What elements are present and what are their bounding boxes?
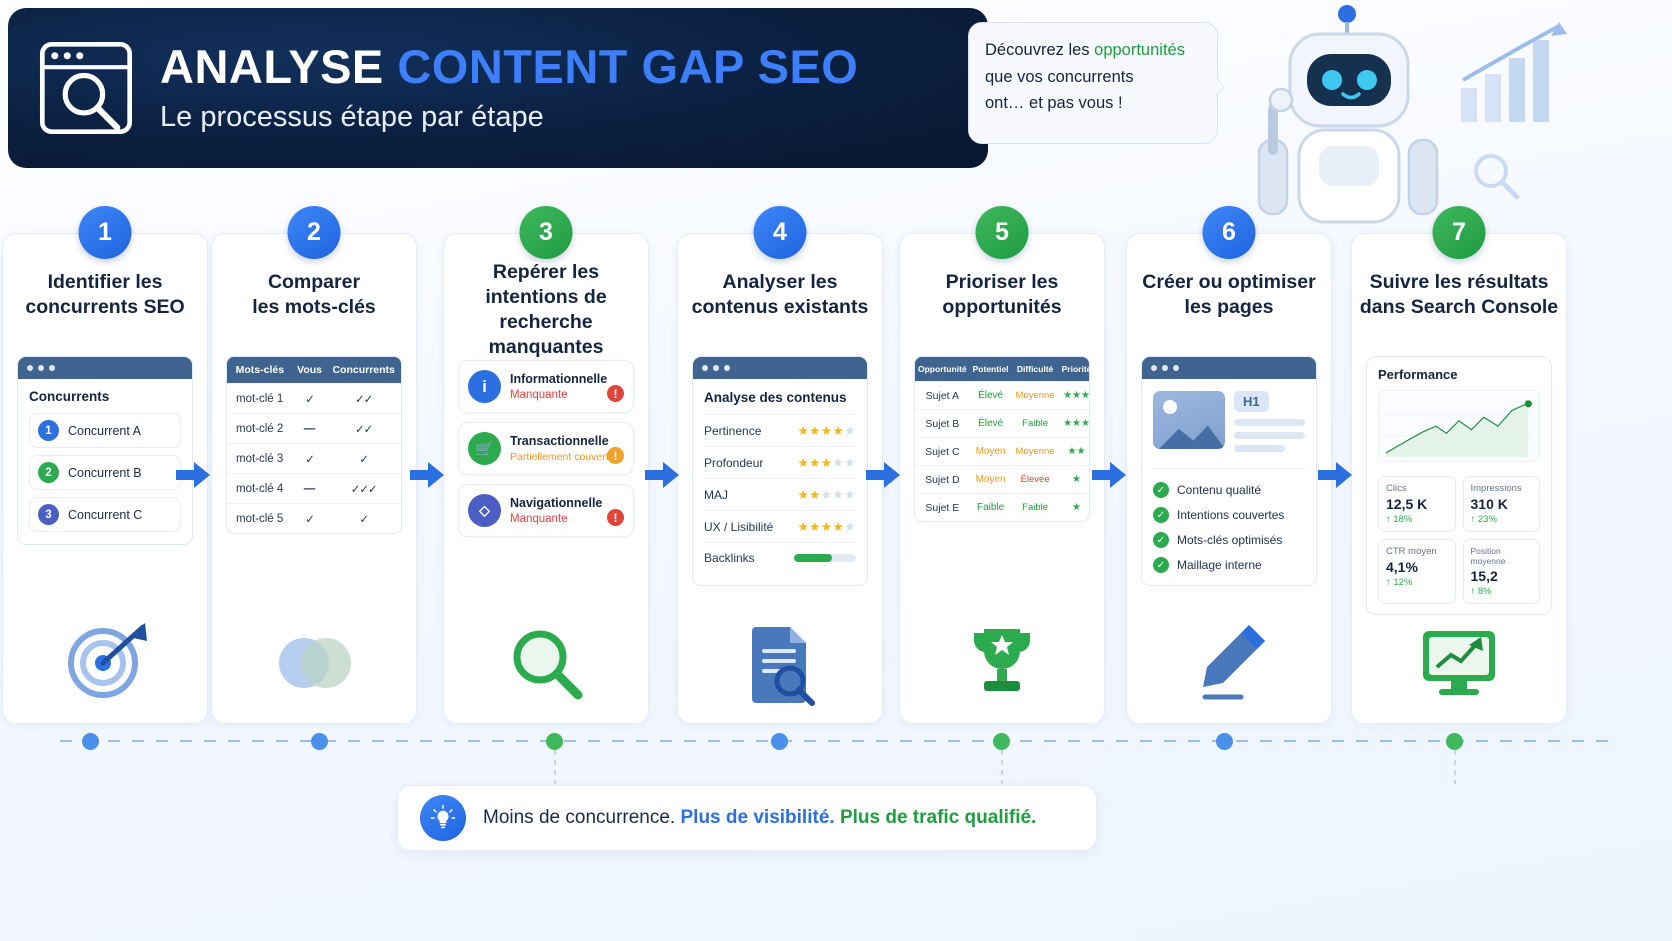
rating-row: Pertinence ★★★★★: [704, 414, 856, 446]
you-cell: ✓: [293, 444, 327, 474]
table-row: mot-clé 2 — ✓✓: [227, 414, 401, 444]
timeline-dot-5: [993, 733, 1010, 750]
step-title-6-line1: Créer ou optimiser: [1142, 271, 1315, 293]
compass-icon: ◇: [468, 494, 501, 527]
intent-name: Navigationnelle: [510, 496, 602, 510]
rating-row: MAJ ★★★★★: [704, 478, 856, 510]
text-line: [1234, 419, 1305, 426]
timeline-dot-2: [311, 733, 328, 750]
kpi-value: 4,1%: [1386, 559, 1448, 575]
checklist-label: Intentions couvertes: [1177, 508, 1284, 522]
col-opportunity: Opportunité: [915, 357, 970, 382]
timeline-dot-6: [1216, 733, 1233, 750]
checklist-item: ✓ Maillage interne: [1153, 557, 1305, 573]
kpi-delta: ↑ 8%: [1471, 586, 1533, 597]
footer-part-2: Plus de visibilité.: [681, 807, 835, 828]
bubble-line3: ont… et pas vous !: [985, 94, 1123, 112]
window-dot: [724, 365, 730, 371]
lightbulb-icon: [420, 795, 466, 841]
timeline-dot-4: [771, 733, 788, 750]
star-rating: ★★★★★: [797, 455, 856, 470]
flow-arrow-icon: [866, 462, 900, 488]
window-dot: [702, 365, 708, 371]
window-titlebar: [18, 357, 192, 379]
priority-cell: ★★: [1059, 438, 1090, 466]
potential-cell: Moyen: [970, 438, 1012, 466]
difficulty-cell: Élevée: [1012, 466, 1059, 494]
step-title-4-line1: Analyser les: [723, 271, 838, 293]
step-title-7: Suivre les résultats dans Search Console: [1358, 270, 1560, 320]
priority-cell: ★★★: [1059, 382, 1090, 410]
venn-diagram-icon: [268, 615, 360, 707]
window-dot: [713, 365, 719, 371]
competitors-cell: ✓: [326, 444, 401, 474]
competitor-rank: 2: [38, 462, 59, 483]
title-white-part: ANALYSE: [160, 40, 384, 93]
window-titlebar: [1142, 357, 1316, 379]
step-card-6[interactable]: 6 Créer ou optimiser les pages H1 ✓ Cont…: [1126, 233, 1332, 724]
timeline-dot-3: [546, 733, 563, 750]
step-card-3[interactable]: 3 Repérer les intentions de recherche ma…: [443, 233, 649, 724]
step-title-4: Analyser les contenus existants: [684, 270, 876, 320]
competitor-label: Concurrent B: [68, 466, 142, 480]
keyword-cell: mot-clé 4: [227, 474, 293, 504]
check-icon: ✓: [1153, 532, 1169, 548]
progress-row: Backlinks: [704, 542, 856, 573]
kpi-label: Impressions: [1471, 483, 1533, 494]
kpi-label: Clics: [1386, 483, 1448, 494]
check-icon: ✓: [1153, 557, 1169, 573]
potential-cell: Élevé: [970, 410, 1012, 438]
footer-part-1: Moins de concurrence.: [483, 807, 681, 828]
star-rating: ★★★★★: [797, 423, 856, 438]
table-row: mot-clé 3 ✓ ✓: [227, 444, 401, 474]
potential-cell: Moyen: [970, 466, 1012, 494]
kpi-value: 12,5 K: [1386, 496, 1448, 512]
col-potential: Potentiel: [970, 357, 1012, 382]
intent-card-navigational[interactable]: ◇ Navigationnelle Manquante !: [458, 484, 634, 537]
bubble-line1-a: Découvrez les: [985, 41, 1094, 59]
keyword-cell: mot-clé 5: [227, 504, 293, 534]
step-title-6: Créer ou optimiser les pages: [1133, 270, 1325, 320]
check-icon: ✓: [1153, 507, 1169, 523]
timeline-stem: [554, 750, 556, 784]
window-dot: [1173, 365, 1179, 371]
col-you: Vous: [293, 357, 327, 384]
bubble-line2: que vos concurrents: [985, 68, 1134, 86]
you-cell: —: [293, 414, 327, 444]
competitor-rank: 1: [38, 420, 59, 441]
rating-row: Profondeur ★★★★★: [704, 446, 856, 478]
footer-text: Moins de concurrence. Plus de visibilité…: [483, 807, 1036, 829]
flow-arrow-icon: [1318, 462, 1352, 488]
star-rating: ★★★★★: [797, 487, 856, 502]
you-cell: —: [293, 474, 327, 504]
table-row: mot-clé 5 ✓ ✓: [227, 504, 401, 534]
step-card-5[interactable]: 5 Prioriser les opportunités Opportunité…: [899, 233, 1105, 724]
step-card-7[interactable]: 7 Suivre les résultats dans Search Conso…: [1351, 233, 1567, 724]
intent-status: Manquante: [510, 513, 602, 525]
table-row: mot-clé 4 — ✓✓✓: [227, 474, 401, 504]
footer-part-3: Plus de trafic qualifié.: [835, 807, 1037, 828]
col-difficulty: Difficulté: [1012, 357, 1059, 382]
competitor-label: Concurrent A: [68, 424, 141, 438]
priority-cell: ★: [1059, 466, 1090, 494]
decorative-bar-chart-icon: [1455, 18, 1575, 128]
info-icon: i: [468, 370, 501, 403]
kpi-position: Position moyenne 15,2 ↑ 8%: [1463, 539, 1541, 604]
competitor-rank: 3: [38, 504, 59, 525]
checklist-item: ✓ Contenu qualité: [1153, 482, 1305, 498]
window-dot: [49, 365, 55, 371]
timeline-track: [60, 740, 1612, 742]
window-titlebar: [693, 357, 867, 379]
competitors-cell: ✓✓✓: [326, 474, 401, 504]
kpi-value: 310 K: [1471, 496, 1533, 512]
window-dot: [27, 365, 33, 371]
competitors-cell: ✓✓: [326, 414, 401, 444]
checklist-label: Mots-clés optimisés: [1177, 533, 1282, 547]
intent-name: Transactionnelle: [510, 434, 614, 448]
intent-card-transactional[interactable]: 🛒 Transactionnelle Partiellement couvert…: [458, 422, 634, 475]
checklist-item: ✓ Intentions couvertes: [1153, 507, 1305, 523]
flow-arrow-icon: [176, 462, 210, 488]
keyword-comparison-table: Mots-clés Vous Concurrents mot-clé 1 ✓ ✓…: [226, 356, 402, 534]
header-banner: ANALYSE CONTENT GAP SEO Le processus éta…: [8, 8, 988, 168]
step-title-7-line2: dans Search Console: [1360, 296, 1558, 318]
growth-monitor-icon: [1413, 615, 1505, 707]
panel-title: Concurrents: [29, 389, 181, 404]
table-row: Sujet A Élevé Moyenne ★★★: [915, 382, 1090, 410]
list-item[interactable]: 1 Concurrent A: [29, 413, 181, 448]
step-card-4[interactable]: 4 Analyser les contenus existants Analys…: [677, 233, 883, 724]
you-cell: ✓: [293, 504, 327, 534]
timeline-stem: [1001, 750, 1003, 784]
checklist-item: ✓ Mots-clés optimisés: [1153, 532, 1305, 548]
step-title-3-line2: intentions de recherche: [485, 286, 606, 333]
difficulty-cell: Moyenne: [1012, 438, 1059, 466]
competitors-panel: Concurrents 1 Concurrent A 2 Concurrent …: [17, 356, 193, 545]
opportunity-priority-table: Opportunité Potentiel Difficulté Priorit…: [914, 356, 1090, 522]
timeline-dot-1: [82, 733, 99, 750]
intent-list: i Informationnelle Manquante ! 🛒 Transac…: [458, 360, 634, 546]
h1-tag: H1: [1234, 391, 1269, 412]
warning-icon: !: [607, 509, 624, 526]
step-title-5-line1: Prioriser les: [946, 271, 1059, 293]
step-badge-3: 3: [520, 206, 573, 259]
table-header-row: Mots-clés Vous Concurrents: [227, 357, 401, 384]
flow-arrow-icon: [645, 462, 679, 488]
kpi-impressions: Impressions 310 K ↑ 23%: [1463, 476, 1541, 532]
kpi-delta: ↑ 12%: [1386, 577, 1448, 588]
priority-cell: ★: [1059, 494, 1090, 522]
checklist-label: Maillage interne: [1177, 558, 1262, 572]
difficulty-cell: Moyenne: [1012, 382, 1059, 410]
rating-row: UX / Lisibilité ★★★★★: [704, 510, 856, 542]
intent-status: Manquante: [510, 389, 607, 401]
content-analysis-panel: Analyse des contenus Pertinence ★★★★★ Pr…: [692, 356, 868, 586]
page-subtitle: Le processus étape par étape: [160, 101, 858, 134]
list-item[interactable]: 2 Concurrent B: [29, 455, 181, 490]
kpi-delta: ↑ 18%: [1386, 514, 1448, 525]
text-line: [1234, 445, 1285, 452]
kpi-grid: Clics 12,5 K ↑ 18% Impressions 310 K ↑ 2…: [1378, 476, 1540, 604]
page-preview: H1: [1153, 389, 1305, 468]
keyword-cell: mot-clé 2: [227, 414, 293, 444]
target-arrow-icon: [59, 615, 151, 707]
step-badge-2: 2: [288, 206, 341, 259]
cart-icon: 🛒: [468, 432, 501, 465]
col-competitors: Concurrents: [326, 357, 401, 384]
competitors-cell: ✓: [326, 504, 401, 534]
speech-bubble: Découvrez les opportunités que vos concu…: [968, 22, 1218, 144]
intent-card-informational[interactable]: i Informationnelle Manquante !: [458, 360, 634, 413]
kpi-label: Position moyenne: [1471, 546, 1533, 566]
keyword-cell: mot-clé 1: [227, 384, 293, 414]
panel-title: Performance: [1378, 367, 1540, 382]
step-title-5-line2: opportunités: [942, 296, 1061, 318]
kpi-delta: ↑ 23%: [1471, 514, 1533, 525]
flow-arrow-icon: [410, 462, 444, 488]
trophy-icon: [956, 615, 1048, 707]
rating-label: Profondeur: [704, 456, 763, 470]
kpi-label: CTR moyen: [1386, 546, 1448, 557]
list-item[interactable]: 3 Concurrent C: [29, 497, 181, 532]
step-title-6-line2: les pages: [1185, 296, 1274, 318]
star-rating: ★★★★★: [797, 519, 856, 534]
check-icon: ✓: [1153, 482, 1169, 498]
subject-cell: Sujet B: [915, 410, 970, 438]
subject-cell: Sujet A: [915, 382, 970, 410]
kpi-clicks: Clics 12,5 K ↑ 18%: [1378, 476, 1456, 532]
step-card-2[interactable]: 2 Comparer les mots-clés Mots-clés Vous …: [211, 233, 417, 724]
intent-status: Partiellement couverte: [510, 451, 614, 463]
progress-bar: [794, 554, 856, 562]
footer-banner: Moins de concurrence. Plus de visibilité…: [397, 785, 1097, 851]
decorative-magnifier-icon: [1470, 150, 1522, 202]
rating-label: UX / Lisibilité: [704, 520, 773, 534]
window-dot: [38, 365, 44, 371]
subject-cell: Sujet C: [915, 438, 970, 466]
warning-icon: !: [607, 385, 624, 402]
step-title-4-line2: contenus existants: [692, 296, 869, 318]
intent-name: Informationnelle: [510, 372, 607, 386]
step-title-7-line1: Suivre les résultats: [1370, 271, 1549, 293]
step-badge-7: 7: [1433, 206, 1486, 259]
kpi-ctr: CTR moyen 4,1% ↑ 12%: [1378, 539, 1456, 604]
panel-title: Analyse des contenus: [704, 390, 856, 405]
step-title-5: Prioriser les opportunités: [906, 270, 1098, 320]
difficulty-cell: Faible: [1012, 410, 1059, 438]
subject-cell: Sujet D: [915, 466, 970, 494]
step-badge-1: 1: [79, 206, 132, 259]
you-cell: ✓: [293, 384, 327, 414]
keyword-cell: mot-clé 3: [227, 444, 293, 474]
warning-icon: !: [607, 447, 624, 464]
window-dot: [1151, 365, 1157, 371]
browser-search-icon: [34, 36, 138, 140]
rating-label: MAJ: [704, 488, 728, 502]
title-blue-part: CONTENT GAP SEO: [397, 40, 858, 93]
timeline-dot-7: [1446, 733, 1463, 750]
page-title: ANALYSE CONTENT GAP SEO: [160, 42, 858, 92]
potential-cell: Faible: [970, 494, 1012, 522]
text-line: [1234, 432, 1305, 439]
competitors-cell: ✓✓: [326, 384, 401, 414]
flow-arrow-icon: [1092, 462, 1126, 488]
step-title-2-line1: Comparer: [268, 271, 360, 293]
step-title-2: Comparer les mots-clés: [218, 270, 410, 320]
subject-cell: Sujet E: [915, 494, 970, 522]
step-title-3-line3: manquantes: [489, 336, 604, 358]
rating-label: Pertinence: [704, 424, 761, 438]
progress-label: Backlinks: [704, 551, 755, 565]
timeline-stem: [1454, 750, 1456, 784]
competitor-label: Concurrent C: [68, 508, 142, 522]
window-dot: [1162, 365, 1168, 371]
checklist-label: Contenu qualité: [1177, 483, 1261, 497]
priority-cell: ★★★: [1059, 410, 1090, 438]
bubble-highlight: opportunités: [1094, 41, 1185, 59]
table-row: Sujet B Élevé Faible ★★★: [915, 410, 1090, 438]
document-search-icon: [734, 615, 826, 707]
step-title-3-line1: Repérer les: [493, 261, 599, 283]
table-row: mot-clé 1 ✓ ✓✓: [227, 384, 401, 414]
col-priority: Priorité: [1059, 357, 1090, 382]
step-badge-6: 6: [1203, 206, 1256, 259]
step-badge-5: 5: [976, 206, 1029, 259]
step-title-1-line1: Identifier les: [48, 271, 163, 293]
step-title-1: Identifier les concurrents SEO: [9, 270, 201, 320]
performance-panel: Performance Clics 12,5 K ↑ 18% Impressio…: [1366, 356, 1552, 615]
pencil-icon: [1183, 615, 1275, 707]
performance-line-chart: [1378, 390, 1540, 462]
col-keywords: Mots-clés: [227, 357, 293, 384]
step-badge-4: 4: [754, 206, 807, 259]
page-builder-panel: H1 ✓ Contenu qualité ✓ Intentions couver…: [1141, 356, 1317, 586]
step-title-3: Repérer les intentions de recherche manq…: [450, 260, 642, 360]
table-row: Sujet C Moyen Moyenne ★★: [915, 438, 1090, 466]
potential-cell: Élevé: [970, 382, 1012, 410]
image-placeholder-icon: [1153, 391, 1225, 449]
magnifier-icon: [500, 615, 592, 707]
kpi-value: 15,2: [1471, 568, 1533, 584]
table-row: Sujet E Faible Faible ★: [915, 494, 1090, 522]
difficulty-cell: Faible: [1012, 494, 1059, 522]
table-row: Sujet D Moyen Élevée ★: [915, 466, 1090, 494]
step-title-1-line2: concurrents SEO: [25, 296, 184, 318]
table-header-row: Opportunité Potentiel Difficulté Priorit…: [915, 357, 1090, 382]
step-title-2-line2: les mots-clés: [252, 296, 376, 318]
